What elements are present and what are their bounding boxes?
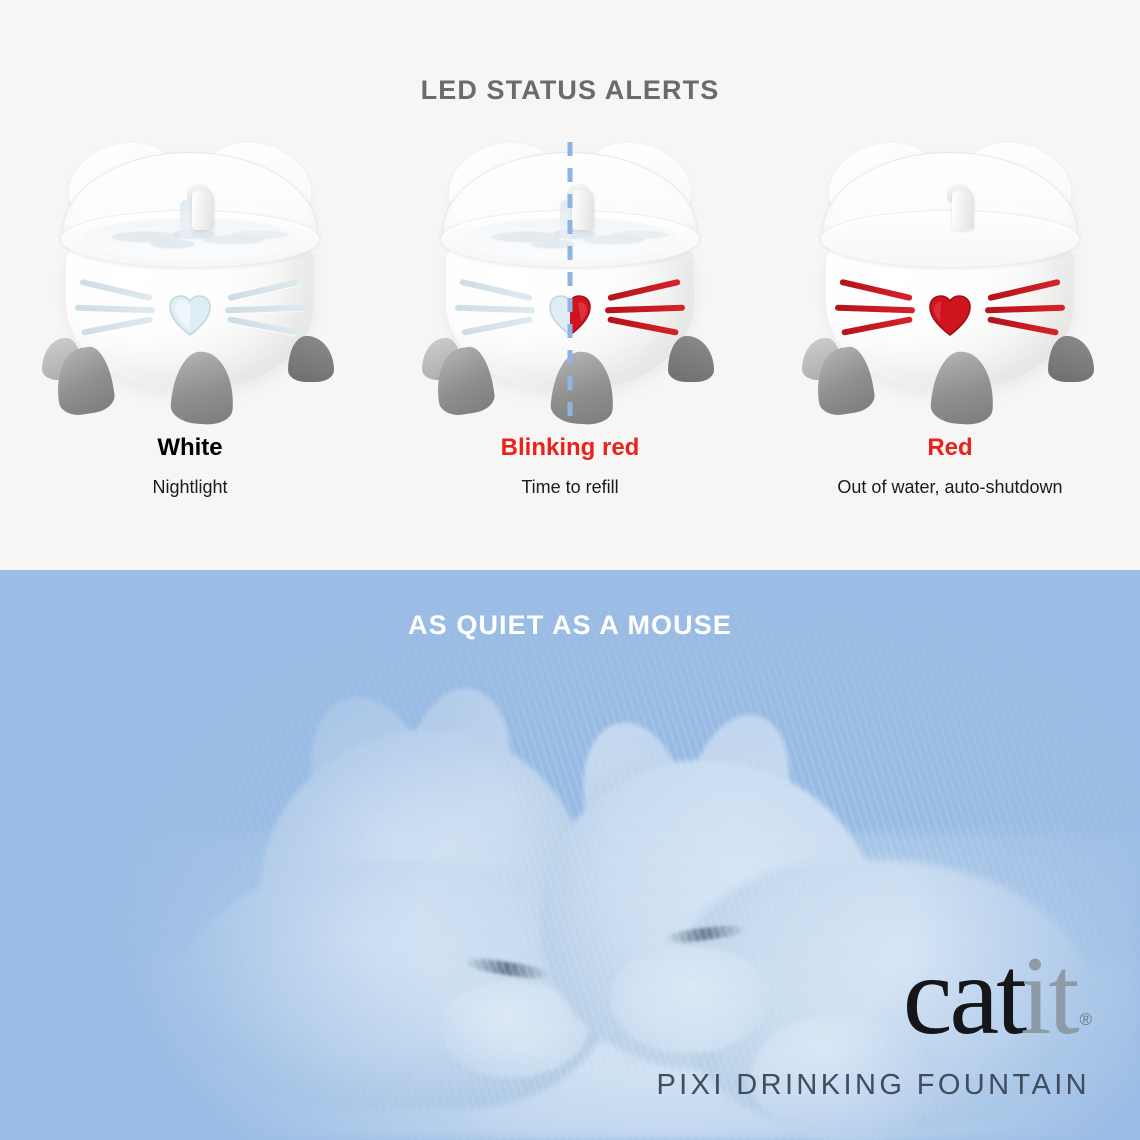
whisker-left-1	[459, 279, 532, 301]
caption-white: White Nightlight	[0, 434, 380, 498]
heart-led-icon	[168, 294, 212, 336]
whisker-right-1	[227, 279, 300, 301]
status-label-blinking-red: Blinking red	[380, 434, 760, 463]
fountain-illustration-blinking-red	[420, 138, 720, 428]
whisker-right-1	[607, 279, 680, 301]
photo-content	[110, 610, 1140, 1140]
whisker-left-1	[79, 279, 152, 301]
blue-tint-overlay	[110, 610, 1140, 1140]
blink-split-indicator	[568, 142, 573, 424]
infographic-page: LED STATUS ALERTS	[0, 0, 1140, 1140]
water-spout	[192, 190, 214, 230]
registered-trademark-icon: ®	[1079, 1010, 1092, 1030]
sleeping-kittens-photo	[110, 610, 1140, 1140]
fountain-illustration-red	[800, 138, 1100, 428]
caption-blinking-red: Blinking red Time to refill	[380, 434, 760, 498]
fountain-row: White Nightlight	[0, 138, 1140, 538]
led-status-item-blinking-red: Blinking red Time to refill	[380, 138, 760, 538]
status-description-blinking-red: Time to refill	[380, 476, 760, 499]
whisker-left-3	[81, 316, 153, 336]
quiet-section: AS QUIET AS A MOUSE	[0, 570, 1140, 1140]
led-status-item-red: Red Out of water, auto-shutdown	[760, 138, 1140, 538]
caption-red: Red Out of water, auto-shutdown	[760, 434, 1140, 498]
quiet-section-title: AS QUIET AS A MOUSE	[0, 610, 1140, 641]
led-section-title: LED STATUS ALERTS	[0, 75, 1140, 106]
whisker-left-2	[75, 305, 155, 314]
heart-led-icon	[928, 294, 972, 336]
status-label-white: White	[0, 434, 380, 463]
water-spout	[572, 190, 594, 230]
led-face-red	[835, 276, 1065, 356]
whisker-left-2	[455, 305, 535, 314]
fountain-illustration-white	[40, 138, 340, 428]
whisker-left-3	[461, 316, 533, 336]
led-face-white	[75, 276, 305, 356]
whisker-right-1	[987, 279, 1060, 301]
led-status-section: LED STATUS ALERTS	[0, 0, 1140, 570]
water-spout	[952, 190, 974, 230]
product-tagline: PIXI DRINKING FOUNTAIN	[656, 1069, 1090, 1102]
whisker-left-1	[839, 279, 912, 301]
logo-text-cat: cat	[903, 948, 1025, 1044]
whisker-right-3	[227, 316, 299, 336]
status-description-red: Out of water, auto-shutdown	[760, 476, 1140, 499]
whisker-right-2	[985, 305, 1065, 314]
fountain-lid-rim	[820, 210, 1080, 268]
catit-logo: cat it ®	[903, 948, 1092, 1044]
photo-fade-mask	[110, 610, 1140, 1140]
whisker-right-3	[607, 316, 679, 336]
status-description-white: Nightlight	[0, 476, 380, 499]
whisker-left-3	[841, 316, 913, 336]
status-label-red: Red	[760, 434, 1140, 463]
whisker-right-2	[605, 305, 685, 314]
whisker-right-3	[987, 316, 1059, 336]
logo-text-it: it	[1020, 948, 1076, 1044]
whisker-left-2	[835, 305, 915, 314]
whisker-right-2	[225, 305, 305, 314]
led-status-item-white: White Nightlight	[0, 138, 380, 538]
